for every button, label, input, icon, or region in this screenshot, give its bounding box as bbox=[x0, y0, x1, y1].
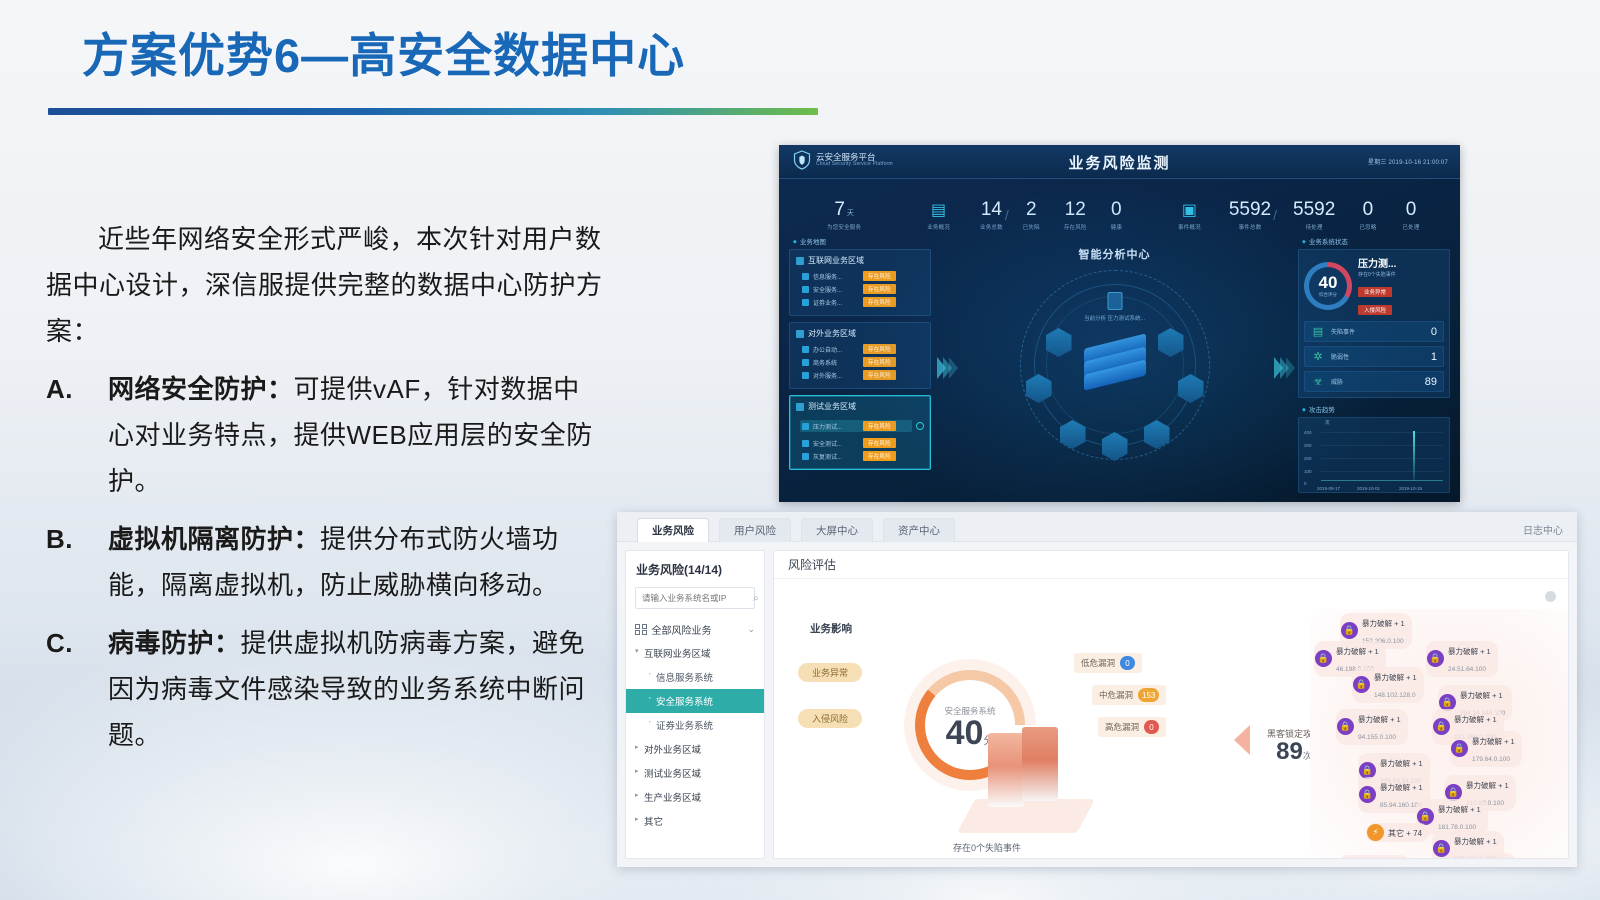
vuln-value: 0 bbox=[1120, 656, 1135, 670]
sidebar-search[interactable]: ⌕ bbox=[635, 587, 755, 609]
title-underline-rule bbox=[48, 108, 818, 115]
badge-label: 暴力破解 + 1 bbox=[1438, 805, 1481, 814]
item-icon bbox=[802, 273, 809, 280]
impact-pill-intrusion: 入侵风险 bbox=[798, 709, 862, 728]
badge-label: 暴力破解 + 1 bbox=[1362, 619, 1405, 628]
kpi-label: 已忽略 bbox=[1359, 223, 1376, 231]
attack-value: 89 bbox=[1276, 738, 1303, 765]
vuln-label: 高危漏洞 bbox=[1105, 721, 1139, 733]
analysis-center-column: 智能分析中心 当前分析 压力测试系统... bbox=[961, 234, 1268, 502]
kpi-healthy: 0 健康 bbox=[1111, 200, 1122, 231]
zone-icon bbox=[796, 330, 804, 338]
kpi-value: 5592 bbox=[1293, 200, 1335, 219]
trend-y-tick: 400 bbox=[1304, 430, 1312, 435]
status-row-label: 威胁 bbox=[1331, 377, 1419, 386]
status-row-vulnerability: ✲ 脆弱性 1 bbox=[1304, 346, 1444, 367]
trend-y-tick: 300 bbox=[1304, 443, 1312, 448]
lock-icon: 🔒 bbox=[1451, 740, 1468, 757]
zone-item[interactable]: 证券业务...存在风险 bbox=[802, 297, 924, 307]
kpi-service-days: 7天 为您安全服务 bbox=[827, 200, 861, 231]
item-name: 商务系统 bbox=[813, 358, 859, 367]
kpi-at-risk: 12 存在风险 bbox=[1064, 200, 1087, 231]
status-row-value: 89 bbox=[1425, 376, 1437, 388]
bullet-marker: A. bbox=[46, 366, 108, 504]
body-text-column: 近些年网络安全形式严峻，本次针对用户数据中心设计，深信服提供完整的数据中心防护方… bbox=[46, 216, 606, 758]
bullet-item-a: A. 网络安全防护：可提供vAF，针对数据中心对业务特点，提供WEB应用层的安全… bbox=[46, 366, 606, 504]
dashboard-screenshot: 云安全服务平台 Cloud Security Service Platform … bbox=[779, 145, 1460, 502]
badge-ip: 179.64.0.100 bbox=[1472, 756, 1510, 763]
kpi-label: 健康 bbox=[1111, 223, 1122, 231]
item-icon bbox=[802, 286, 809, 293]
attack-badge[interactable]: 🔒暴力破解 + 146.99.0.100 bbox=[1444, 853, 1516, 859]
app-tab-bar: 业务风险 用户风险 大屏中心 资产中心 日志中心 bbox=[617, 512, 1577, 542]
lock-icon: 🔒 bbox=[1433, 718, 1450, 735]
trend-label: 攻击趋势 bbox=[1302, 404, 1450, 414]
trend-spike bbox=[1413, 431, 1415, 481]
tab-user-risk[interactable]: 用户风险 bbox=[719, 518, 791, 542]
risk-tag: 存在风险 bbox=[863, 421, 896, 431]
dashboard-body: 业务地图 互联网业务区域 信息服务...存在风险 安全服务...存在风险 证券业… bbox=[779, 231, 1460, 502]
score-value: 40 bbox=[1319, 274, 1338, 291]
kpi-value: 2 bbox=[1023, 200, 1040, 219]
attack-badge[interactable]: 🔒暴力破解 + 1117.192.0.125 bbox=[1338, 855, 1410, 859]
kpi-label: 事件总数 bbox=[1229, 223, 1271, 231]
kpi-label: 事件概况 bbox=[1178, 223, 1201, 231]
risk-tag: 存在风险 bbox=[863, 438, 896, 448]
item-name: 办公自动... bbox=[813, 345, 859, 354]
kpi-label: 业务总数 bbox=[980, 223, 1003, 231]
attack-badge[interactable]: 🔒暴力破解 + 124.51.64.100 bbox=[1426, 641, 1498, 677]
badge-label: 暴力破解 + 1 bbox=[1448, 647, 1491, 656]
search-input[interactable] bbox=[642, 593, 753, 603]
tab-business-risk[interactable]: 业务风险 bbox=[637, 518, 709, 542]
tab-asset-center[interactable]: 资产中心 bbox=[883, 518, 955, 542]
business-map-label: 业务地图 bbox=[793, 236, 931, 246]
bullet-lead: 网络安全防护： bbox=[108, 374, 294, 404]
item-name: 灰复测试... bbox=[813, 452, 859, 461]
zone-item[interactable]: 商务系统存在风险 bbox=[802, 357, 924, 367]
score-gauge: 40 综合评分 bbox=[1304, 262, 1352, 310]
attack-badge-other[interactable]: ⚡其它 + 74 bbox=[1366, 823, 1429, 842]
lock-icon: 🔒 bbox=[1359, 786, 1376, 803]
intro-paragraph: 近些年网络安全形式严峻，本次针对用户数据中心设计，深信服提供完整的数据中心防护方… bbox=[46, 216, 606, 354]
badge-ip: 94.155.0.100 bbox=[1358, 734, 1396, 741]
selection-marker-icon bbox=[916, 422, 924, 430]
tab-screen-center[interactable]: 大屏中心 bbox=[801, 518, 873, 542]
analysis-center-title: 智能分析中心 bbox=[961, 246, 1268, 262]
kpi-label: 为您安全服务 bbox=[827, 223, 861, 231]
vuln-value: 153 bbox=[1138, 688, 1159, 702]
vuln-medium: 中危漏洞 153 bbox=[1092, 685, 1166, 705]
zone-title: 互联网业务区域 bbox=[808, 255, 864, 266]
status-badge-intrusion: 入侵风险 bbox=[1358, 305, 1392, 315]
kpi-value: 7 bbox=[834, 199, 845, 220]
risk-tag: 存在风险 bbox=[863, 271, 896, 281]
bullet-lead: 病毒防护： bbox=[108, 628, 241, 658]
kpi-business-overview: ▤ 业务概况 bbox=[927, 203, 950, 231]
badge-ip: 148.102.128.0 bbox=[1374, 692, 1416, 699]
status-row-breach: ▤ 失陷事件 0 bbox=[1304, 321, 1444, 342]
grid-icon bbox=[635, 624, 647, 636]
kpi-label: 业务概况 bbox=[927, 223, 950, 231]
server-icon: ▤ bbox=[927, 203, 950, 219]
badge-ip: 181.78.0.100 bbox=[1438, 824, 1476, 831]
kpi-separator: / bbox=[1003, 207, 1011, 231]
status-row-value: 1 bbox=[1431, 351, 1437, 363]
kpi-value: 5592 bbox=[1229, 200, 1271, 219]
system-status-label: 业务系统状态 bbox=[1302, 236, 1450, 246]
dashboard-title: 业务风险监测 bbox=[779, 152, 1460, 173]
item-icon bbox=[802, 423, 809, 430]
attack-badge[interactable]: 🔒暴力破解 + 1148.102.128.0 bbox=[1352, 667, 1424, 703]
system-status-column: 业务系统状态 40 综合评分 压力测... 存在0个失陷事件 业务异常 bbox=[1298, 234, 1450, 502]
zone-title: 测试业务区域 bbox=[808, 401, 856, 412]
zone-external[interactable]: 对外业务区域 办公自动...存在风险 商务系统存在风险 对外服务...存在风险 bbox=[789, 322, 931, 389]
trend-y-tick: 200 bbox=[1304, 456, 1312, 461]
vuln-high: 高危漏洞 0 bbox=[1098, 717, 1166, 737]
risk-tag: 存在风险 bbox=[863, 451, 896, 461]
kpi-value: 0 bbox=[1111, 200, 1122, 219]
tree-root-label: 全部风险业务 bbox=[652, 622, 712, 637]
item-icon bbox=[802, 299, 809, 306]
bug-icon: ✲ bbox=[1311, 350, 1325, 363]
analysis-ring-graphic: 当前分析 压力测试系统... bbox=[1020, 270, 1210, 460]
zone-item[interactable]: 对外服务...存在风险 bbox=[802, 370, 924, 380]
badge-ip: 24.51.64.100 bbox=[1448, 666, 1486, 673]
badge-label: 暴力破解 + 1 bbox=[1336, 647, 1379, 656]
sidebar-item-securities-business[interactable]: 证券业务系统 bbox=[626, 713, 764, 737]
item-icon bbox=[802, 453, 809, 460]
server-illustration bbox=[966, 727, 1086, 837]
dashboard-datetime: 星期三 2019-10-16 21:00:07 bbox=[1368, 157, 1448, 166]
clipboard-icon: ▣ bbox=[1178, 203, 1201, 219]
lock-icon: 🔒 bbox=[1341, 622, 1358, 639]
kpi-unit: 天 bbox=[847, 210, 854, 217]
panel-title: 风险评估 bbox=[774, 551, 1568, 579]
status-badge-abnormal: 业务异常 bbox=[1358, 287, 1392, 297]
attack-trend-chart: 次 400 300 200 100 0 2019-09-17 2019-10-0… bbox=[1298, 417, 1450, 493]
vuln-value: 0 bbox=[1144, 720, 1159, 734]
badge-label: 暴力破解 + 1 bbox=[1472, 737, 1515, 746]
kpi-strip: 7天 为您安全服务 ▤ 业务概况 14 业务总数 / 2 已失陷 12 存在风险… bbox=[779, 179, 1460, 231]
sidebar-item-test-zone[interactable]: 测试业务区域 bbox=[626, 761, 764, 785]
zone-icon bbox=[796, 257, 804, 265]
badge-label: 暴力破解 + 1 bbox=[1460, 691, 1503, 700]
sidebar-item-security-service[interactable]: 安全服务系统 bbox=[626, 689, 764, 713]
system-status-card: 40 综合评分 压力测... 存在0个失陷事件 业务异常 入侵风险 ▤ bbox=[1298, 249, 1450, 398]
bullet-item-b: B. 虚拟机隔离防护：提供分布式防火墙功能，隔离虚拟机，防止威胁横向移动。 bbox=[46, 516, 606, 608]
item-name: 信息服务... bbox=[813, 272, 859, 281]
lock-icon: 🔒 bbox=[1315, 650, 1332, 667]
page-title: 方案优势6—高安全数据中心 bbox=[82, 30, 685, 83]
risk-tag: 存在风险 bbox=[863, 297, 896, 307]
status-row-label: 失陷事件 bbox=[1331, 327, 1425, 336]
breach-note: 存在0个失陷事件 bbox=[912, 841, 1062, 854]
flow-arrow-right-icon bbox=[1274, 357, 1292, 379]
zone-test[interactable]: 测试业务区域 压力测试...存在风险 安全测试...存在风险 灰复测试...存在… bbox=[789, 395, 931, 470]
kpi-label: 已处理 bbox=[1402, 223, 1419, 231]
item-name: 证券业务... bbox=[813, 298, 859, 307]
risk-app-screenshot: 业务风险 用户风险 大屏中心 资产中心 日志中心 业务风险(14/14) ⌕ 全… bbox=[617, 512, 1577, 867]
attack-badge[interactable]: 🔒暴力破解 + 1179.64.0.100 bbox=[1450, 731, 1522, 767]
kpi-label: 待处理 bbox=[1293, 223, 1335, 231]
kpi-label: 存在风险 bbox=[1064, 223, 1087, 231]
status-row-threat: ☣ 威胁 89 bbox=[1304, 371, 1444, 392]
item-icon bbox=[802, 440, 809, 447]
impact-pill-abnormal: 业务异常 bbox=[798, 663, 862, 682]
app-body: 业务风险(14/14) ⌕ 全部风险业务 ⌄ 互联网业务区域 信息服务系统 安全… bbox=[617, 542, 1577, 867]
kpi-value: 14 bbox=[980, 200, 1003, 219]
bullet-item-c: C. 病毒防护：提供虚拟机防病毒方案，避免因为病毒文件感染导致的业务系统中断问题… bbox=[46, 620, 606, 758]
item-name: 安全服务... bbox=[813, 285, 859, 294]
kpi-value: 12 bbox=[1064, 200, 1087, 219]
risk-assessment-panel: 风险评估 业务影响 业务异常 入侵风险 安全服务系统 40分 bbox=[773, 550, 1569, 859]
badge-label: 暴力破解 + 1 bbox=[1374, 673, 1417, 682]
badge-label: 暴力破解 + 1 bbox=[1380, 759, 1423, 768]
dashboard-header: 云安全服务平台 Cloud Security Service Platform … bbox=[779, 145, 1460, 179]
item-icon bbox=[802, 346, 809, 353]
breach-icon: ▤ bbox=[1311, 325, 1325, 338]
trend-y-tick: 0 bbox=[1304, 481, 1307, 486]
sidebar-item-other[interactable]: 其它 bbox=[626, 809, 764, 833]
sidebar-item-internet-zone[interactable]: 互联网业务区域 bbox=[626, 641, 764, 665]
risk-sidebar: 业务风险(14/14) ⌕ 全部风险业务 ⌄ 互联网业务区域 信息服务系统 安全… bbox=[625, 550, 765, 859]
kpi-breached: 2 已失陷 bbox=[1023, 200, 1040, 231]
risk-tag: 存在风险 bbox=[863, 357, 896, 367]
title-block: 方案优势6—高安全数据中心 bbox=[82, 30, 685, 83]
status-sub: 存在0个失陷事件 bbox=[1358, 271, 1444, 278]
trend-x-tick: 2019-09-17 bbox=[1317, 486, 1340, 491]
panel-content: 业务影响 业务异常 入侵风险 安全服务系统 40分 存在0个失陷事件 bbox=[774, 579, 1568, 859]
risk-tag: 存在风险 bbox=[863, 284, 896, 294]
threat-icon: ☣ bbox=[1311, 375, 1325, 388]
analysis-server-icon bbox=[1107, 292, 1122, 310]
kpi-ignored: 0 已忽略 bbox=[1359, 200, 1376, 231]
item-name: 对外服务... bbox=[813, 371, 859, 380]
trend-y-unit: 次 bbox=[1325, 420, 1330, 426]
kpi-handled: 0 已处理 bbox=[1402, 200, 1419, 231]
kpi-separator: / bbox=[1271, 207, 1279, 231]
badge-label: 暴力破解 + 1 bbox=[1466, 781, 1509, 790]
risk-tag: 存在风险 bbox=[863, 370, 896, 380]
status-row-label: 脆弱性 bbox=[1331, 352, 1425, 361]
bullet-text: 病毒防护：提供虚拟机防病毒方案，避免因为病毒文件感染导致的业务系统中断问题。 bbox=[108, 620, 606, 758]
zone-item-selected[interactable]: 压力测试...存在风险 bbox=[800, 420, 912, 432]
vuln-low: 低危漏洞 0 bbox=[1074, 653, 1142, 673]
bolt-icon: ⚡ bbox=[1367, 824, 1384, 841]
zone-item[interactable]: 灰复测试...存在风险 bbox=[802, 451, 924, 461]
attack-source-map: 🔒暴力破解 + 1152.206.0.100 🔒暴力破解 + 146.198.0… bbox=[1310, 609, 1568, 859]
sidebar-item-production-zone[interactable]: 生产业务区域 bbox=[626, 785, 764, 809]
analysis-caption: 当前分析 压力测试系统... bbox=[1084, 314, 1145, 322]
bullet-marker: B. bbox=[46, 516, 108, 608]
tree-root-all-risk[interactable]: 全部风险业务 ⌄ bbox=[626, 618, 764, 641]
trend-x-tick: 2019-10-15 bbox=[1399, 486, 1422, 491]
item-icon bbox=[802, 372, 809, 379]
badge-label: 其它 + 74 bbox=[1388, 829, 1422, 838]
zone-title: 对外业务区域 bbox=[808, 328, 856, 339]
kpi-value: 0 bbox=[1402, 200, 1419, 219]
lock-icon: 🔒 bbox=[1427, 650, 1444, 667]
zone-item[interactable]: 安全服务...存在风险 bbox=[802, 284, 924, 294]
trend-y-tick: 100 bbox=[1304, 469, 1312, 474]
flow-arrow-left-icon bbox=[937, 357, 955, 379]
item-name: 安全测试... bbox=[813, 439, 859, 448]
sidebar-item-external-zone[interactable]: 对外业务区域 bbox=[626, 737, 764, 761]
log-center-link[interactable]: 日志中心 bbox=[1523, 522, 1563, 537]
search-icon[interactable]: ⌕ bbox=[753, 593, 759, 604]
data-stack-icon bbox=[1084, 341, 1146, 393]
status-row-value: 0 bbox=[1431, 326, 1437, 338]
kpi-business-total: 14 业务总数 bbox=[980, 200, 1003, 231]
zone-item[interactable]: 信息服务...存在风险 bbox=[802, 271, 924, 281]
badge-label: 暴力破解 + 1 bbox=[1380, 783, 1423, 792]
kpi-event-overview: ▣ 事件概况 bbox=[1178, 203, 1201, 231]
business-impact-title: 业务影响 bbox=[810, 621, 852, 636]
bullet-marker: C. bbox=[46, 620, 108, 758]
attack-badge[interactable]: 🔒暴力破解 + 194.155.0.100 bbox=[1336, 709, 1408, 745]
business-map-column: 业务地图 互联网业务区域 信息服务...存在风险 安全服务...存在风险 证券业… bbox=[789, 234, 931, 502]
kpi-pending: 5592 待处理 bbox=[1293, 200, 1335, 231]
badge-label: 暴力破解 + 1 bbox=[1358, 715, 1401, 724]
trend-x-tick: 2019-10-01 bbox=[1357, 486, 1380, 491]
risk-tag: 存在风险 bbox=[863, 344, 896, 354]
kpi-event-total: 5592 事件总数 bbox=[1229, 200, 1271, 231]
item-name: 压力测试... bbox=[813, 422, 859, 431]
bullet-text: 网络安全防护：可提供vAF，针对数据中心对业务特点，提供WEB应用层的安全防护。 bbox=[108, 366, 606, 504]
badge-label: 暴力破解 + 1 bbox=[1454, 715, 1497, 724]
chevron-down-icon[interactable]: ⌄ bbox=[747, 624, 755, 635]
vuln-label: 中危漏洞 bbox=[1099, 689, 1133, 701]
zone-internet[interactable]: 互联网业务区域 信息服务...存在风险 安全服务...存在风险 证券业务...存… bbox=[789, 249, 931, 316]
bullet-text: 虚拟机隔离防护：提供分布式防火墙功能，隔离虚拟机，防止威胁横向移动。 bbox=[108, 516, 606, 608]
trend-baseline bbox=[1321, 480, 1443, 481]
zone-icon bbox=[796, 403, 804, 411]
slide-root: 方案优势6—高安全数据中心 近些年网络安全形式严峻，本次针对用户数据中心设计，深… bbox=[0, 0, 1600, 900]
bullet-lead: 虚拟机隔离防护： bbox=[108, 524, 320, 554]
status-system-name: 压力测... bbox=[1358, 255, 1444, 270]
zone-item[interactable]: 办公自动...存在风险 bbox=[802, 344, 924, 354]
kpi-value: 0 bbox=[1359, 200, 1376, 219]
kpi-label: 已失陷 bbox=[1023, 223, 1040, 231]
lock-icon: 🔒 bbox=[1353, 676, 1370, 693]
sidebar-item-info-service[interactable]: 信息服务系统 bbox=[626, 665, 764, 689]
score-label: 综合评分 bbox=[1319, 292, 1338, 298]
zone-item[interactable]: 安全测试...存在风险 bbox=[802, 438, 924, 448]
vuln-label: 低危漏洞 bbox=[1081, 657, 1115, 669]
item-icon bbox=[802, 359, 809, 366]
sidebar-title: 业务风险(14/14) bbox=[626, 559, 764, 587]
lock-icon: 🔒 bbox=[1337, 718, 1354, 735]
badge-label: 暴力破解 + 1 bbox=[1454, 837, 1497, 846]
